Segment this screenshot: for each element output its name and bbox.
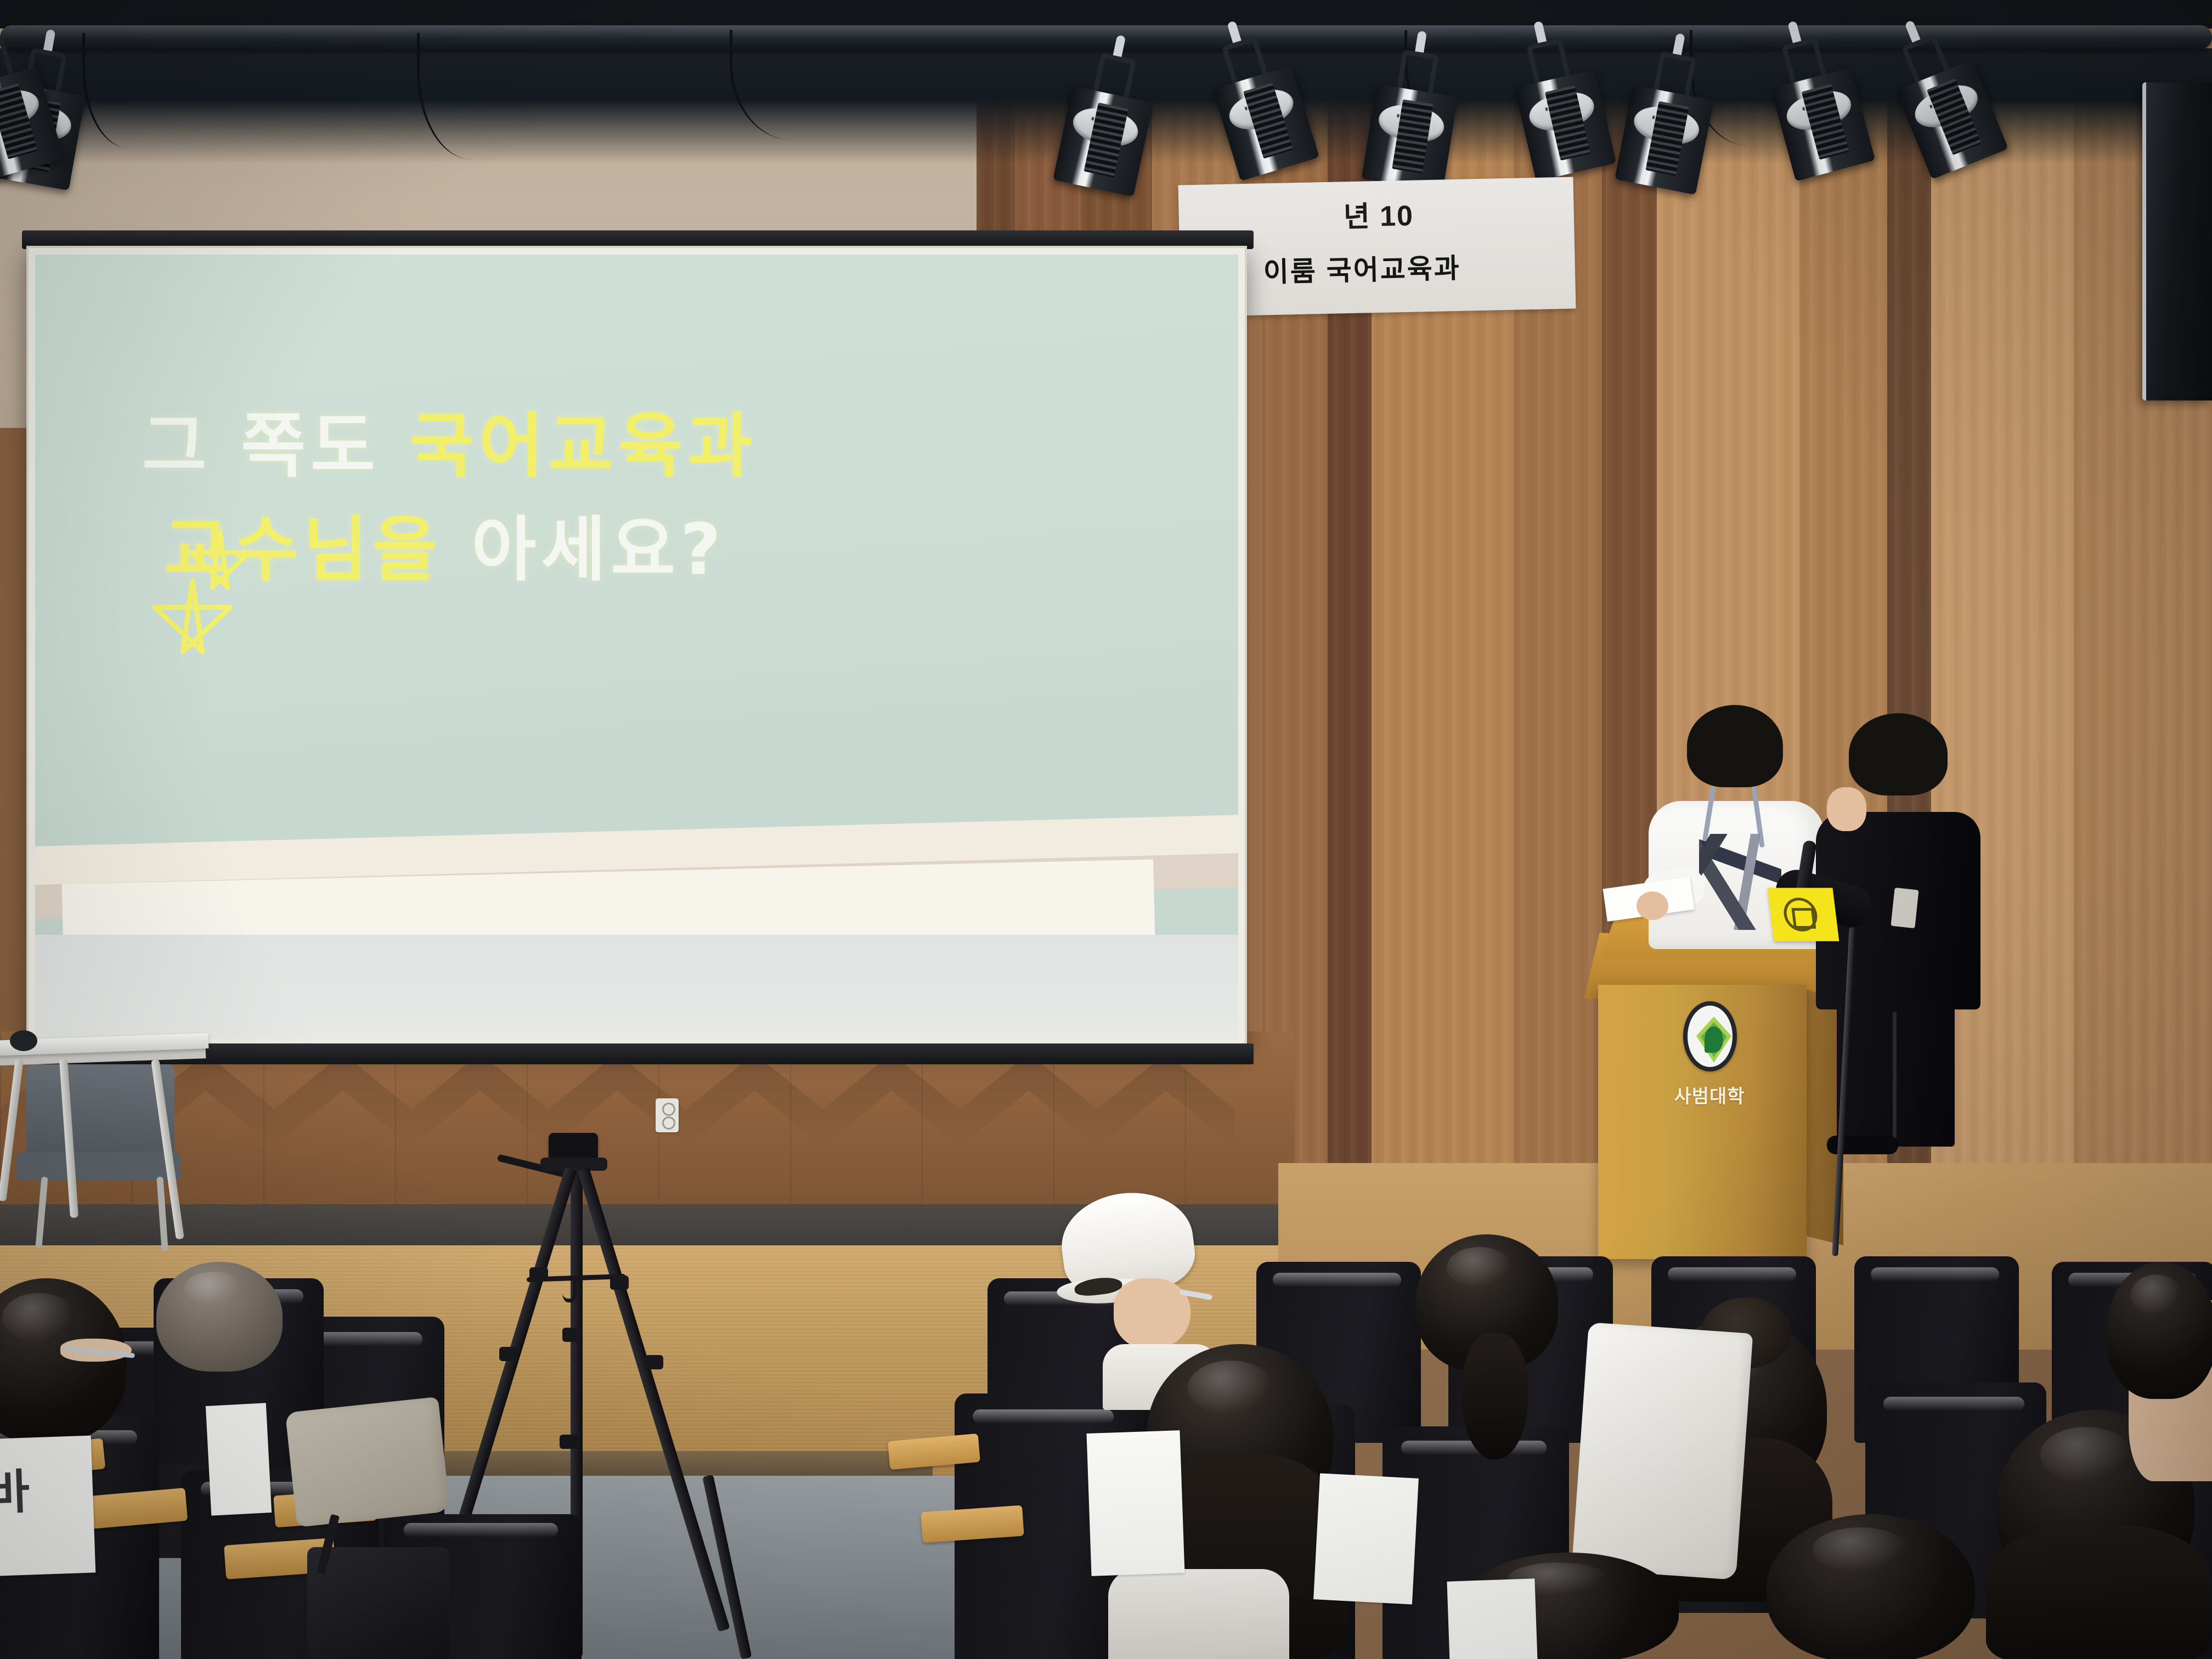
podium-label: 사범대학 bbox=[1668, 1081, 1751, 1108]
handout-paper bbox=[206, 1403, 272, 1515]
folding-chair-back bbox=[26, 1064, 174, 1163]
podium: 사범대학 bbox=[1598, 985, 1807, 1259]
slide-l1-seg2: 쪽도 bbox=[241, 405, 409, 487]
auditorium-presentation-photo: 년 10 이룸 국어교육과 bbox=[0, 0, 2212, 1659]
handout-paper bbox=[1447, 1578, 1537, 1659]
tripod-leg-lock bbox=[562, 1328, 581, 1342]
table-knob bbox=[10, 1030, 37, 1051]
slide-l2-seg1: 교수님을 bbox=[164, 509, 472, 591]
presenter-with-microphone bbox=[1810, 713, 1991, 1119]
seat-sign-glyph: 바 bbox=[0, 1453, 31, 1523]
audience-member-head bbox=[1767, 1514, 1975, 1659]
audience-member-hair-length bbox=[1986, 1525, 2211, 1659]
audience-member-shoulders bbox=[1108, 1569, 1289, 1659]
tripod-hook bbox=[562, 1278, 577, 1302]
ponytail bbox=[1462, 1333, 1528, 1459]
slide-line-1: 그 쪽도 국어교육과 bbox=[142, 394, 1146, 498]
tripod-leg-lock bbox=[560, 1435, 578, 1449]
presenter1-shirt-graphic bbox=[1699, 834, 1781, 930]
handout-paper bbox=[1087, 1430, 1185, 1576]
slide-band-grey bbox=[35, 935, 1238, 1039]
audience-member-face bbox=[1114, 1278, 1190, 1350]
slide-line-2: 교수님을 아세요? bbox=[164, 498, 1146, 602]
slide-l1-seg3: 국어교육과 bbox=[409, 405, 757, 487]
university-emblem-icon bbox=[1683, 1001, 1737, 1071]
tripod-leg-lock bbox=[499, 1347, 518, 1361]
presenter2-hair bbox=[1849, 713, 1948, 795]
wall-speaker bbox=[2142, 82, 2212, 400]
seat-sign: 바 bbox=[0, 1436, 95, 1577]
tripod-leg-lock bbox=[610, 1276, 629, 1290]
slide-text-block: 그 쪽도 국어교육과 교수님을 아세요? bbox=[142, 394, 1146, 602]
presenter1-hair bbox=[1687, 705, 1783, 787]
tripod-leg-lock bbox=[529, 1267, 548, 1282]
audience-member-head bbox=[2107, 1262, 2212, 1399]
tripod-leg-lock bbox=[645, 1355, 663, 1369]
slide-l2-seg2: 아세요? bbox=[472, 509, 726, 591]
presenter2-hand bbox=[1827, 787, 1866, 831]
presenter1-hand bbox=[1637, 891, 1668, 920]
ceiling-soffit bbox=[0, 0, 2212, 29]
power-outlet bbox=[656, 1098, 679, 1132]
audience-bag bbox=[307, 1547, 450, 1659]
presentation-slide: 그 쪽도 국어교육과 교수님을 아세요? bbox=[35, 255, 1238, 1039]
audience-member-head bbox=[156, 1262, 283, 1372]
lighting-truss-bar bbox=[0, 25, 2212, 49]
projection-screen: 그 쪽도 국어교육과 교수님을 아세요? bbox=[26, 246, 1247, 1047]
mic-flag-logo-icon bbox=[1782, 898, 1819, 932]
audience-member-sleeve bbox=[285, 1397, 450, 1527]
slide-l1-seg1: 그 bbox=[142, 405, 241, 487]
microphone-flag bbox=[1768, 888, 1839, 941]
banner-line-2: 이룸 국어교육과 bbox=[1263, 246, 1461, 290]
handout-paper bbox=[1313, 1473, 1419, 1604]
banner-line-1: 년 10 bbox=[1343, 193, 1414, 235]
folding-chair-seat bbox=[16, 1152, 181, 1181]
presenter2-lanyard bbox=[1891, 888, 1918, 928]
jacket-on-seat bbox=[1572, 1322, 1753, 1580]
